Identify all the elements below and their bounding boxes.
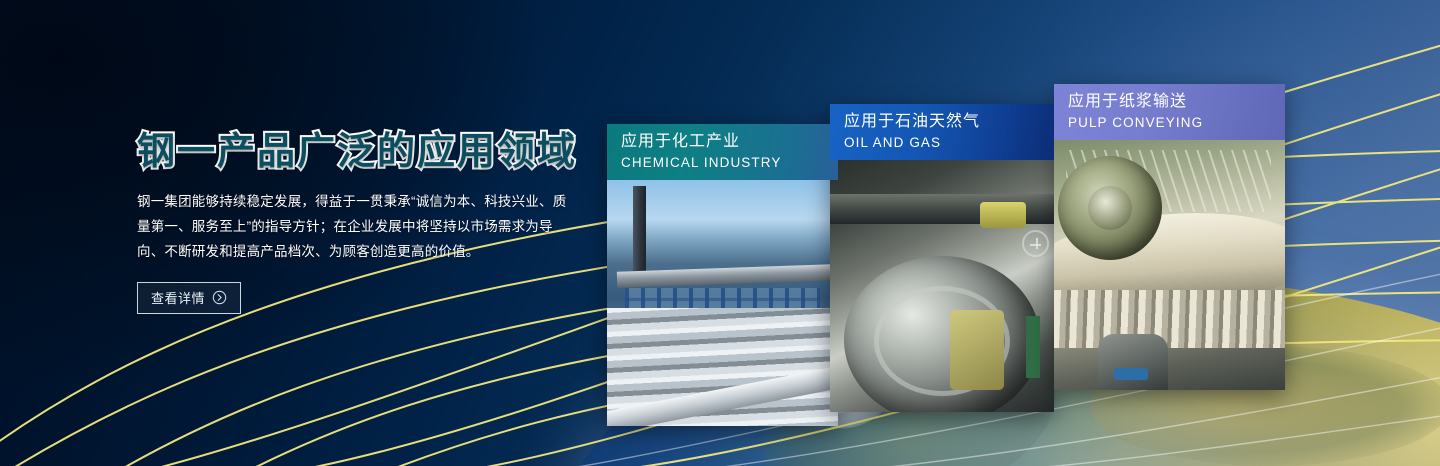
photo-motor-housing [1098,334,1168,390]
card-caption: 应用于石油天然气 OIL AND GAS [830,104,1054,160]
card-title-cn: 应用于纸浆输送 [1068,91,1285,113]
card-title-en: CHEMICAL INDUSTRY [621,153,838,172]
chevron-right-circle-icon [212,290,227,305]
card-title-en: PULP CONVEYING [1068,113,1285,132]
application-card-pulp-conveying[interactable]: 应用于纸浆输送 PULP CONVEYING [1054,84,1285,390]
photo-conveyor-slats [1054,290,1285,348]
card-photo-chemical-plant [607,180,838,426]
plus-circle-icon[interactable] [1022,230,1049,257]
photo-yellow-fitting-top [980,202,1026,228]
photo-green-post [1026,316,1040,378]
view-details-button[interactable]: 查看详情 [137,282,241,314]
view-details-label: 查看详情 [151,288,205,307]
card-title-cn: 应用于石油天然气 [844,111,1054,133]
card-title-en: OIL AND GAS [844,133,1054,152]
photo-yellow-fitting-mid [950,310,1004,390]
photo-hub-center [1088,186,1132,230]
card-photo-oil-gas-machinery [830,160,1054,412]
hero-banner: 钢一产品广泛的应用领域 钢一集团能够持续稳定发展，得益于一贯秉承“诚信为本、科技… [0,0,1440,466]
application-card-oil-and-gas[interactable]: 应用于石油天然气 OIL AND GAS [830,104,1054,412]
card-title-cn: 应用于化工产业 [621,131,838,153]
card-caption: 应用于纸浆输送 PULP CONVEYING [1054,84,1285,140]
application-card-chemical-industry[interactable]: 应用于化工产业 CHEMICAL INDUSTRY [607,124,838,426]
photo-smokestack [633,186,646,278]
page-title: 钢一产品广泛的应用领域 [137,132,597,173]
hero-text-block: 钢一产品广泛的应用领域 钢一集团能够持续稳定发展，得益于一贯秉承“诚信为本、科技… [137,132,597,314]
photo-horizontal-pipe [617,264,832,287]
hero-description: 钢一集团能够持续稳定发展，得益于一贯秉承“诚信为本、科技兴业、质量第一、服务至上… [137,189,577,264]
card-caption: 应用于化工产业 CHEMICAL INDUSTRY [607,124,838,180]
photo-blue-clamp [1114,368,1148,380]
card-photo-pulp-roller [1054,140,1285,390]
